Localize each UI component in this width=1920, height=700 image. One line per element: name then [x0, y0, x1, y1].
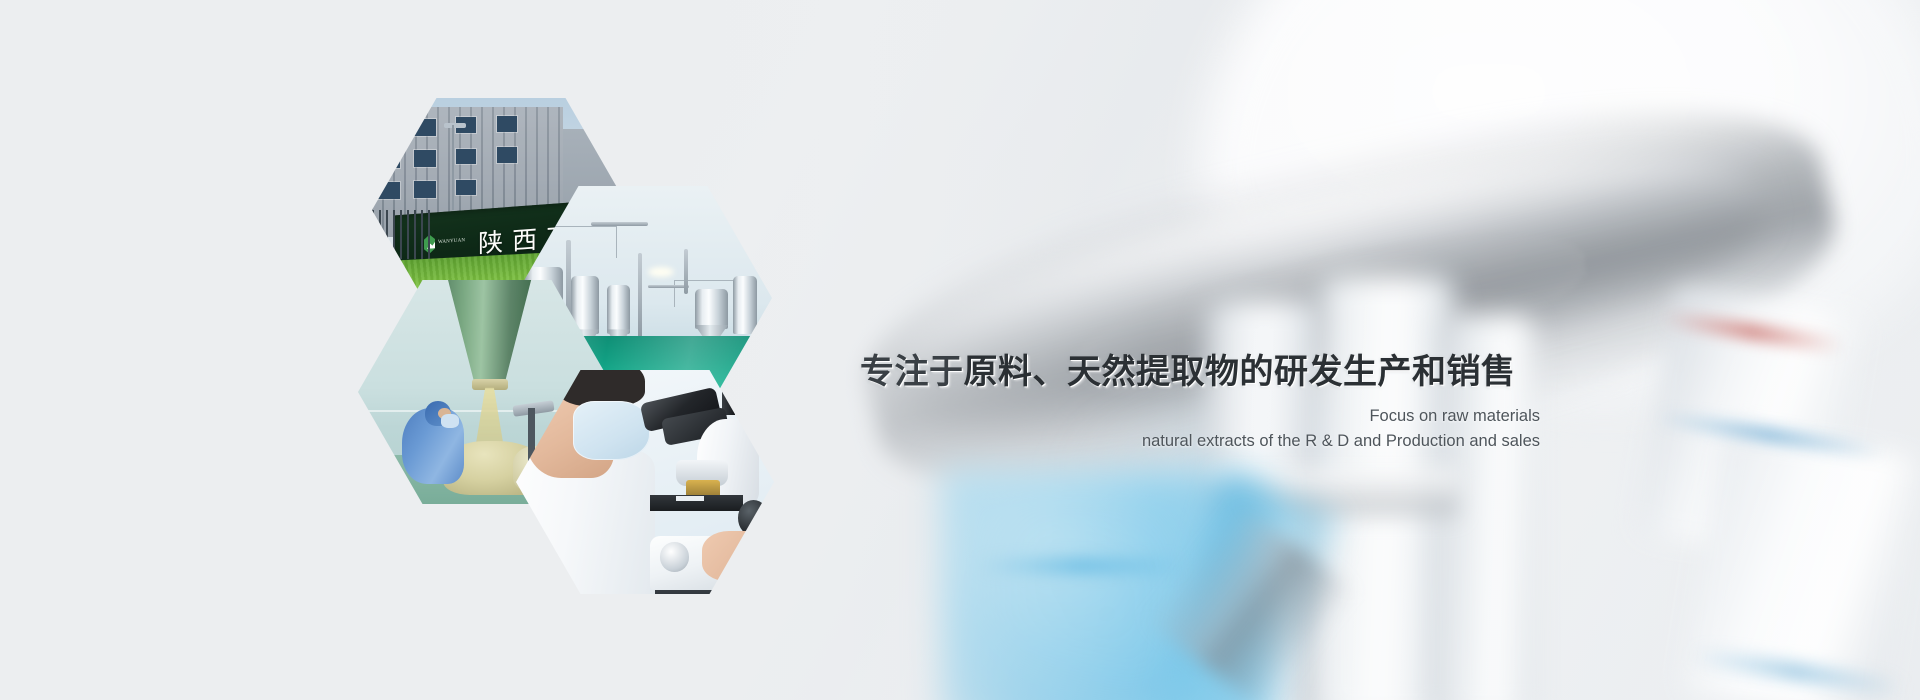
objective-red-band — [1660, 310, 1845, 355]
factory-window — [497, 116, 517, 132]
plant-ceiling-light — [648, 267, 674, 277]
microscope-nosepiece-ring — [839, 44, 1861, 557]
analyst-hand — [702, 531, 769, 580]
factory-lamp-pole — [452, 125, 454, 210]
plant-pipe — [684, 249, 688, 294]
logo-wordmark: WANYUAN — [438, 238, 465, 246]
plant-extraction-tank — [607, 285, 630, 334]
factory-window — [456, 149, 476, 165]
plant-pipe — [648, 285, 689, 289]
glove-crease — [975, 558, 1185, 574]
objective-collar — [1208, 470, 1458, 516]
objective-barrel-center — [1320, 276, 1455, 700]
hex-photo-cluster: WANYUAN 陕西万源 — [358, 80, 878, 580]
tweezers-blur — [1145, 500, 1356, 700]
hero-subtitle-line-1: Focus on raw materials — [860, 407, 1540, 426]
factory-window — [497, 147, 517, 163]
factory-window — [378, 151, 400, 168]
factory-window — [414, 150, 436, 167]
headline-lead: 专注于 — [860, 352, 964, 392]
headline-emphasis: 原料、天然提取物的研发生产和销售 — [964, 352, 1516, 392]
plant-pipe — [638, 253, 642, 338]
analyst-face-mask — [573, 401, 650, 459]
microscope-focus-knob — [660, 542, 688, 571]
factory-street-lamp — [444, 123, 466, 128]
microscope-slide — [676, 496, 704, 501]
hero-subtitle-line-2: natural extracts of the R & D and Produc… — [860, 432, 1540, 451]
factory-window — [378, 182, 400, 199]
plant-reactor-vessel — [695, 289, 729, 329]
hero-banner: WANYUAN 陕西万源 — [0, 0, 1920, 700]
background-white-veil — [0, 0, 1920, 700]
objective-lens-lower — [1680, 426, 1920, 700]
factory-window — [456, 180, 476, 196]
worker-face-mask — [441, 414, 459, 427]
glove-finger-edge — [1154, 478, 1341, 700]
hero-headline: 专注于原料、天然提取物的研发生产和销售 — [860, 352, 1540, 392]
objective-blue-band — [1655, 410, 1884, 460]
blue-gloved-hand — [940, 470, 1270, 700]
plant-column — [733, 276, 756, 334]
objective-lens-upper — [1637, 287, 1864, 564]
factory-window — [414, 181, 436, 198]
microscope-body-blur — [1200, 0, 1920, 400]
factory-fence — [372, 210, 434, 259]
plant-duct — [591, 222, 648, 226]
hero-text-block: 专注于原料、天然提取物的研发生产和销售 Focus on raw materia… — [860, 352, 1540, 451]
objective-blue-band-2 — [1690, 647, 1905, 696]
factory-window — [414, 119, 436, 136]
factory-window — [378, 120, 400, 137]
